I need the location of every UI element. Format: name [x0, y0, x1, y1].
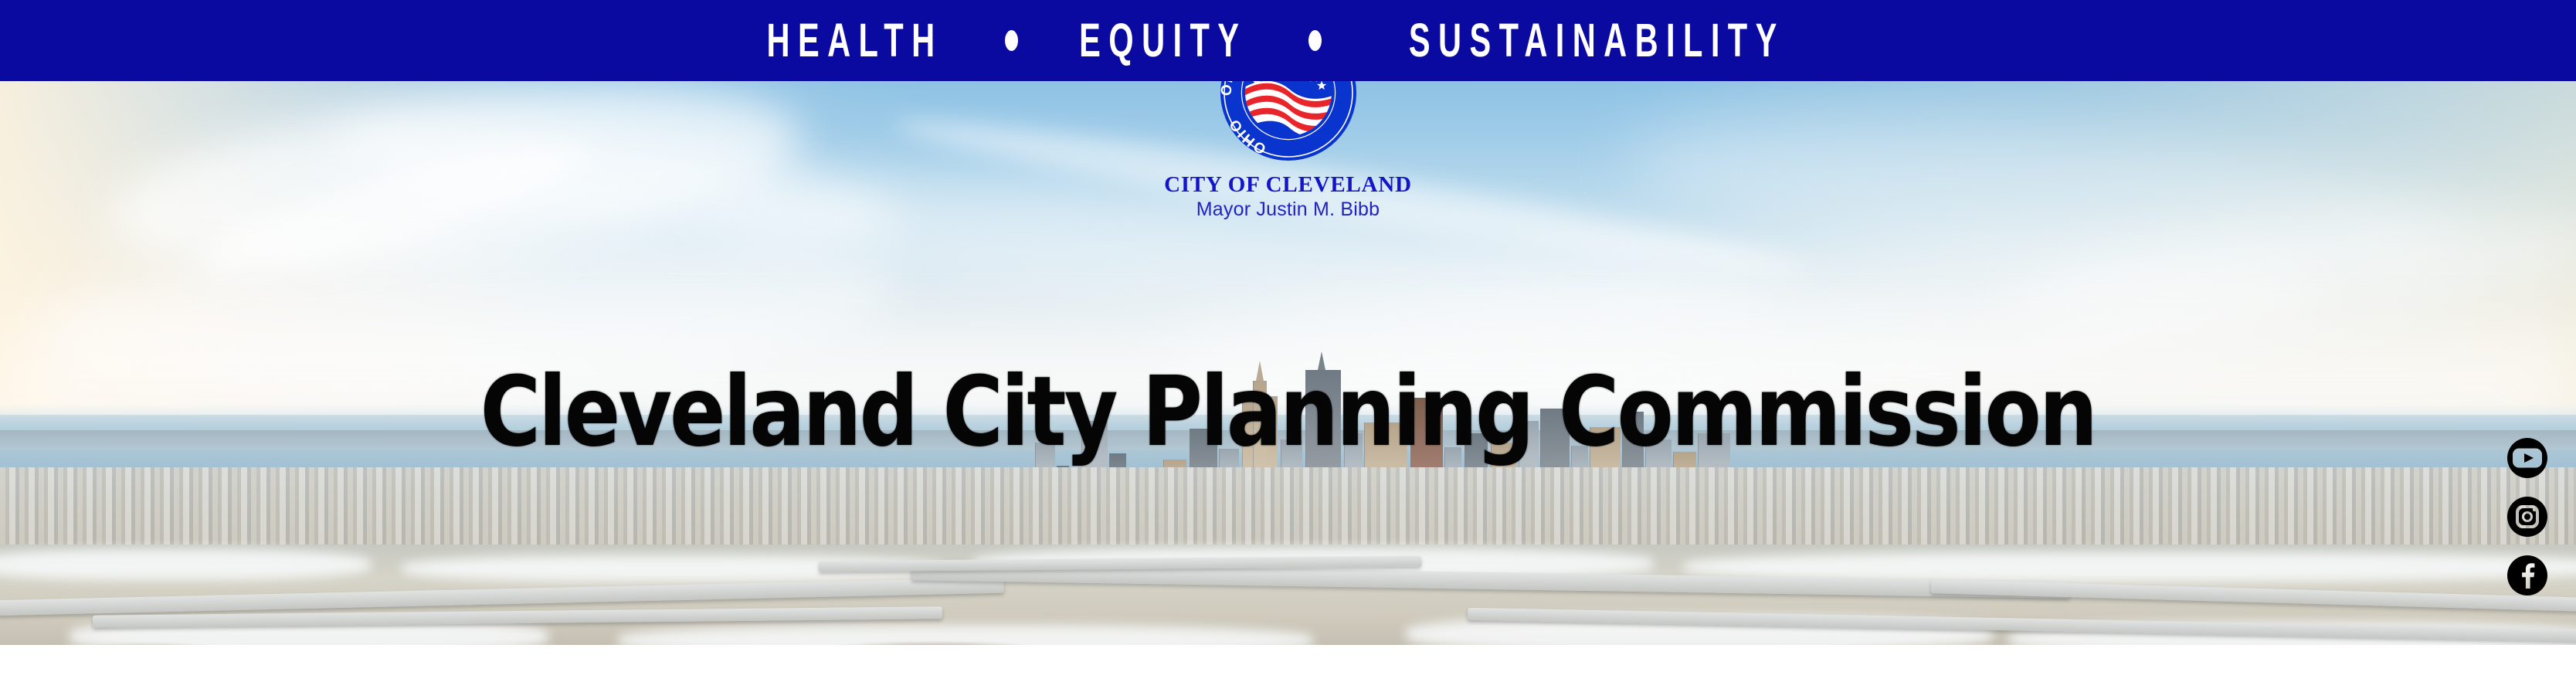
tagline-banner: HEALTH EQUITY SUSTAINABILITY — [0, 0, 2576, 81]
tagline-word-health: HEALTH — [766, 17, 942, 64]
tagline-inner: HEALTH EQUITY SUSTAINABILITY — [745, 21, 1831, 61]
tagline-word-equity: EQUITY — [1079, 17, 1247, 64]
logo-title: CITY OF CLEVELAND — [1081, 173, 1495, 196]
footer-white-strip — [0, 645, 2576, 682]
tagline-separator-dot-1 — [1005, 30, 1018, 51]
social-media-rail — [2496, 427, 2559, 603]
foreground-valley — [0, 545, 2576, 645]
tagline-word-sustainability: SUSTAINABILITY — [1408, 17, 1784, 64]
snow-patch — [0, 549, 371, 580]
skyline-spire — [1256, 361, 1264, 381]
snow-patch — [618, 625, 1313, 645]
tagline-separator-dot-2 — [1308, 30, 1322, 51]
youtube-icon[interactable] — [2496, 427, 2558, 489]
skyline-spire — [1318, 351, 1325, 370]
instagram-icon[interactable] — [2496, 486, 2558, 548]
logo-subtitle: Mayor Justin M. Bibb — [1081, 199, 1495, 219]
facebook-icon[interactable] — [2496, 545, 2558, 606]
